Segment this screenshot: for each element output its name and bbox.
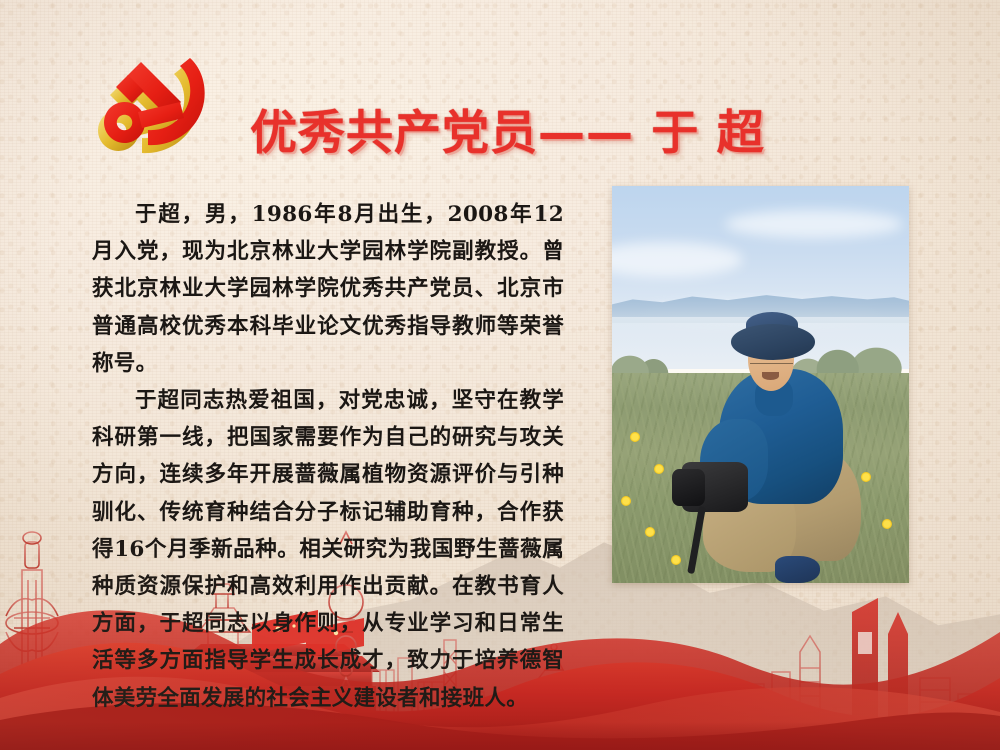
portrait-photo-frame [612,186,909,583]
paragraph-2: 于超同志热爱祖国，对党忠诚，坚守在教学科研第一线，把国家需要作为自己的研究与攻关… [92,382,564,717]
page-title: 优秀共产党员—— 于 超 [250,98,870,170]
photo-person-shoe [775,556,820,583]
photo-yellow-flower [654,464,664,474]
photo-person-hat-brim [731,324,815,360]
photo-camera-lens [672,469,705,506]
photo-cloud [725,210,903,238]
biography-text-block: 于超，男，1986年8月出生，2008年12月入党，现为北京林业大学园林学院副教… [92,196,564,717]
photo-person [689,309,861,583]
paragraph-1: 于超，男，1986年8月出生，2008年12月入党，现为北京林业大学园林学院副教… [92,196,564,382]
photo-yellow-flower [621,496,631,506]
portrait-photo [612,186,909,583]
photo-yellow-flower [630,432,640,442]
bottom-fade [0,722,1000,750]
poster-header: 优秀共产党员—— 于 超 [0,0,1000,190]
cpc-hammer-sickle-emblem-icon [94,42,226,170]
poster-root: 优秀共产党员—— 于 超 于超，男，1986年8月出生，2008年12月入党，现… [0,0,1000,750]
